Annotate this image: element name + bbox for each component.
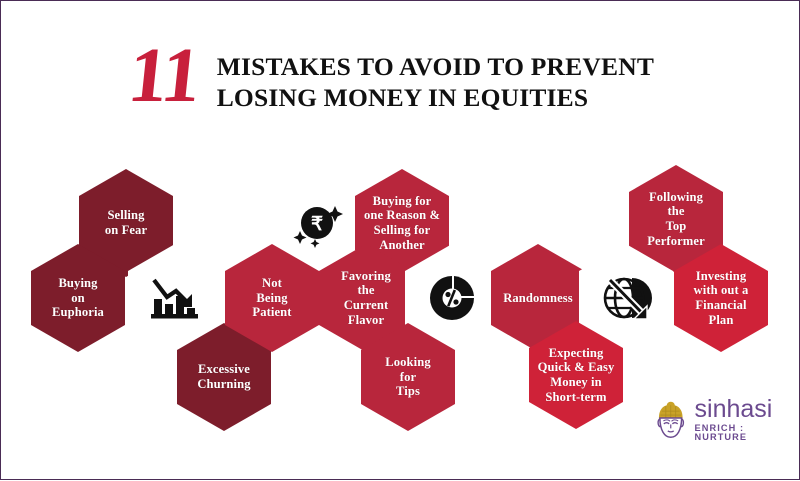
mistake-label: FavoringtheCurrentFlavor: [341, 269, 391, 328]
buddha-head-icon: [653, 400, 689, 440]
percent-donut-icon: [427, 273, 477, 323]
rupee-coin-icon: ₹: [291, 198, 343, 248]
mistake-label: Sellingon Fear: [105, 208, 147, 237]
mistake-label: NotBeingPatient: [252, 276, 291, 320]
logo-wordmark: sinhasi ENRICH : NURTURE: [695, 397, 799, 442]
mistake-label: ExcessiveChurning: [197, 362, 250, 391]
mistake-label: Buying forone Reason &Selling forAnother: [364, 194, 440, 253]
logo-name: sinhasi: [695, 397, 799, 422]
mistake-label: Randomness: [503, 291, 573, 306]
declining-bar-chart-icon: [149, 274, 201, 322]
mistake-label: ExpectingQuick & EasyMoney inShort-term: [538, 346, 615, 405]
sinhasi-logo: sinhasi ENRICH : NURTURE: [653, 397, 799, 442]
infographic-canvas: 11 MISTAKES TO AVOID TO PREVENT LOSING M…: [0, 0, 800, 480]
mistake-label: LookingforTips: [385, 355, 431, 399]
mistake-label: BuyingonEuphoria: [52, 276, 104, 320]
svg-text:₹: ₹: [311, 214, 323, 235]
mistake-label: FollowingtheTopPerformer: [647, 190, 705, 249]
mistake-label: Investingwith out aFinancialPlan: [694, 269, 749, 328]
logo-tagline: ENRICH : NURTURE: [695, 424, 799, 442]
globe-down-arrow-icon: [600, 273, 652, 323]
